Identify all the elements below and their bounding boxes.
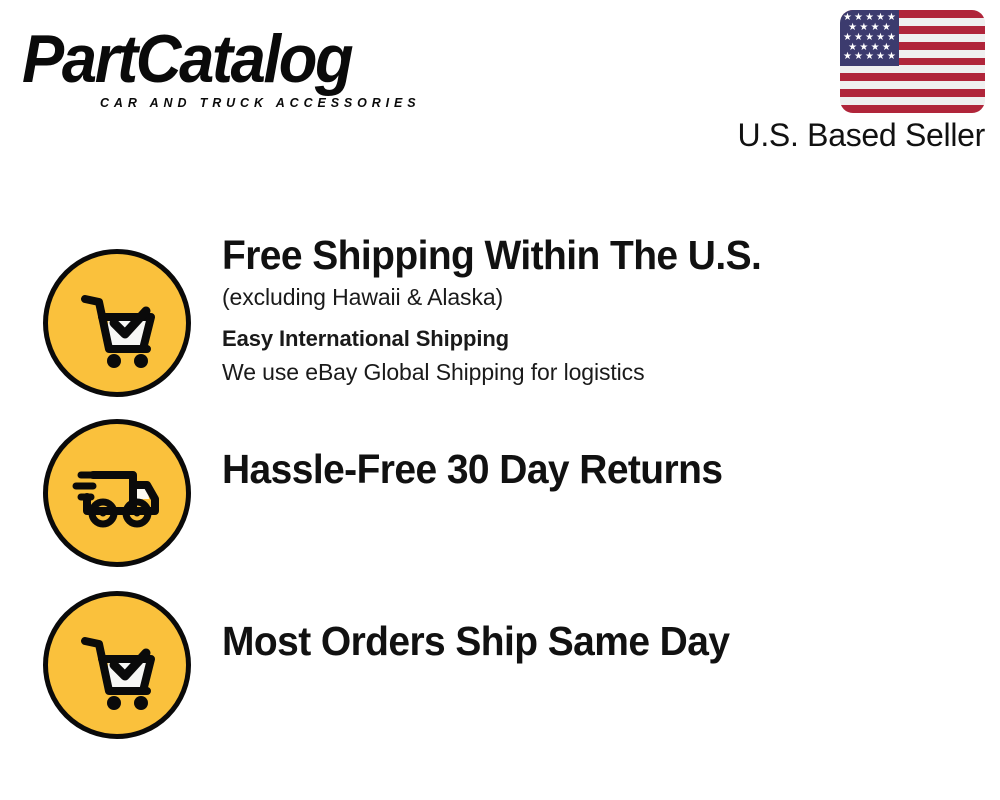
flag-star-row: ★ ★ ★ ★ ★ [842,33,897,42]
feature-row: Free Shipping Within The U.S. (excluding… [0,230,1000,420]
flag-star-icon: ★ [843,52,852,62]
flag-stripe [840,73,985,81]
shopping-cart-check-icon [43,249,191,397]
feature-subtitle: (excluding Hawaii & Alaska) [222,280,990,314]
flag-canton: ★ ★ ★ ★ ★ ★ ★ ★ ★ ★ ★ ★ ★ ★ ★ ★ [840,10,899,66]
flag-stripe [840,81,985,89]
feature-title: Free Shipping Within The U.S. [222,230,952,280]
flag-stripe [840,105,985,113]
feature-text-block: Free Shipping Within The U.S. (excluding… [222,230,990,389]
feature-text-block: Hassle-Free 30 Day Returns [222,444,990,494]
feature-row: Hassle-Free 30 Day Returns [0,400,1000,550]
flag-star-row: ★ ★ ★ ★ ★ [842,53,897,62]
flag-star-icon: ★ [865,52,874,62]
brand-tagline: CAR AND TRUCK ACCESSORIES [100,96,420,110]
delivery-truck-icon [43,419,191,567]
us-based-seller-label: U.S. Based Seller [600,116,985,154]
feature-text-block: Most Orders Ship Same Day [222,616,990,666]
shopping-cart-check-icon [43,591,191,739]
flag-stripe [840,89,985,97]
flag-star-icon: ★ [854,52,863,62]
flag-star-icon: ★ [876,52,885,62]
feature-secondary-title: Easy International Shipping [222,325,990,353]
banner-header: PartCatalog CAR AND TRUCK ACCESSORIES ★ … [0,0,1000,175]
feature-secondary-subtitle: We use eBay Global Shipping for logistic… [222,355,990,389]
feature-title: Hassle-Free 30 Day Returns [222,444,952,494]
flag-stripe [840,65,985,73]
flag-star-icon: ★ [887,52,896,62]
brand-logo: PartCatalog CAR AND TRUCK ACCESSORIES [22,24,492,114]
feature-title: Most Orders Ship Same Day [222,616,952,666]
us-flag-icon: ★ ★ ★ ★ ★ ★ ★ ★ ★ ★ ★ ★ ★ ★ ★ ★ [840,10,985,113]
brand-wordmark: PartCatalog [22,24,459,94]
feature-row: Most Orders Ship Same Day [0,572,1000,722]
flag-stripe [840,97,985,105]
